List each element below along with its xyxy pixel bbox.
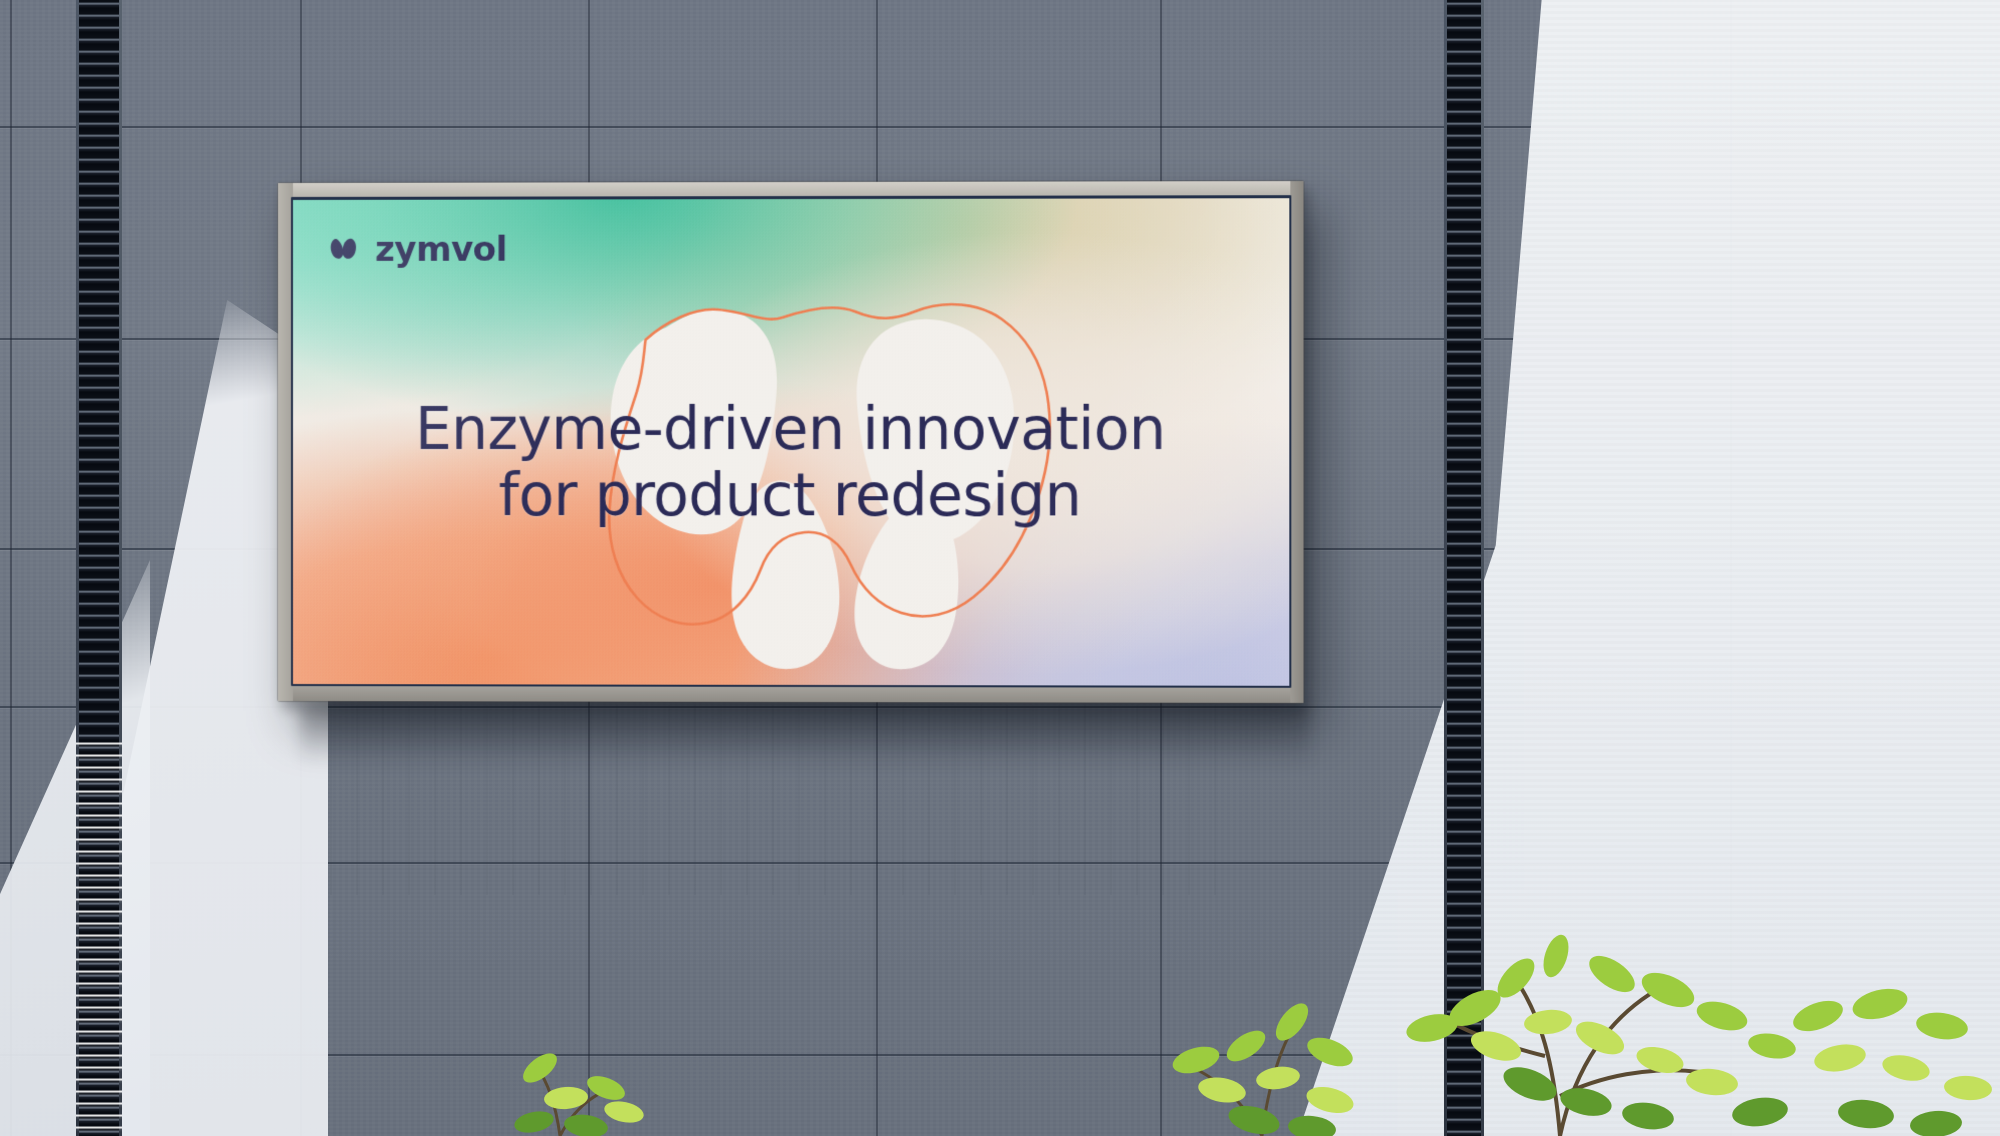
louver-edge xyxy=(1444,0,1447,1136)
brand-logo[interactable]: zymvol xyxy=(329,233,507,267)
brand-name: zymvol xyxy=(375,233,507,267)
headline-line-1: Enzyme-driven innovation xyxy=(415,395,1165,463)
butterfly-mark-icon xyxy=(329,237,365,263)
poster-headline: Enzyme-driven innovation for product red… xyxy=(293,396,1289,529)
headline-line-2: for product redesign xyxy=(319,462,1263,529)
louver-edge xyxy=(1481,0,1484,1136)
louver-sunlit-section xyxy=(76,736,122,1136)
louver-slats xyxy=(1444,0,1484,1136)
billboard[interactable]: zymvol Enzyme-driven innovation for prod… xyxy=(278,181,1304,703)
frame-right-edge xyxy=(1290,181,1303,703)
billboard-scene: zymvol Enzyme-driven innovation for prod… xyxy=(0,0,2000,1136)
billboard-poster[interactable]: zymvol Enzyme-driven innovation for prod… xyxy=(293,198,1289,686)
louver-vent-right xyxy=(1444,0,1484,1136)
louver-vent-left xyxy=(76,0,122,1136)
billboard-drop-shadow xyxy=(300,705,1310,765)
